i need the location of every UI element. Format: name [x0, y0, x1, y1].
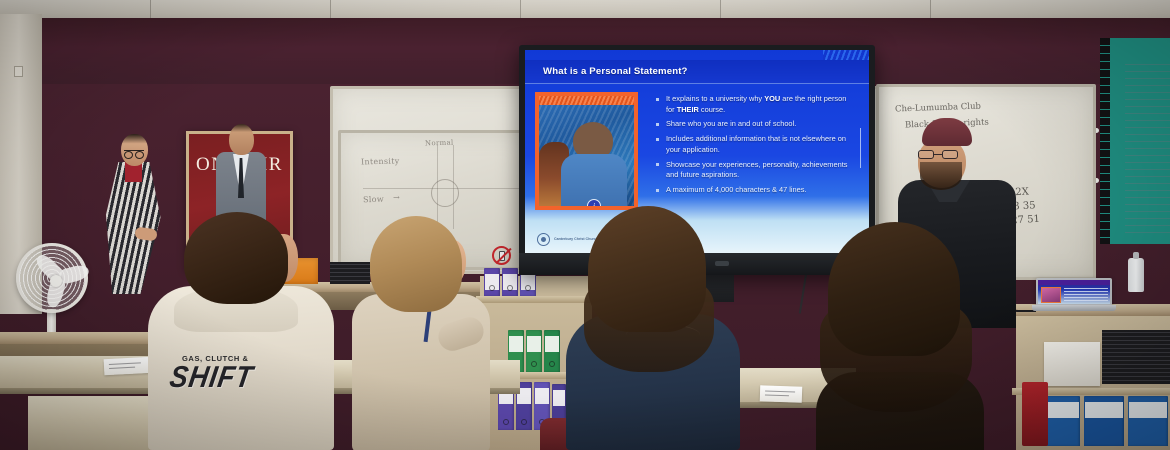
no-mobile-phones-sign — [492, 246, 511, 265]
whiteboard-note: Normal — [425, 139, 454, 148]
power-socket — [14, 66, 23, 77]
ring-binder — [526, 330, 542, 372]
hoodie-print-main: SHIFT — [167, 360, 255, 395]
whiteboard-right-line: Che-Lumumba Club — [895, 102, 981, 115]
slide-photo: i — [535, 92, 638, 210]
slide-bullet: Showcase your experiences, personality, … — [655, 160, 855, 181]
ring-binder — [1084, 396, 1124, 446]
student-right-dark-hair — [812, 222, 988, 450]
slide-scroll-marker — [860, 128, 862, 168]
student-shift-hoodie: GAS, CLUTCH & SHIFT — [148, 212, 334, 450]
slide-bullet: It explains to a university why YOU are … — [655, 94, 855, 115]
glasses-icon — [124, 150, 144, 156]
logo-mark-icon — [537, 233, 550, 246]
slide-title-bar: What is a Personal Statement? — [525, 60, 869, 84]
slide-bullet-list: It explains to a university why YOU are … — [655, 94, 855, 200]
book-stack — [1102, 330, 1170, 384]
classroom-photo: Intensity Normal Slow → Che-Lumumba Club… — [0, 0, 1170, 450]
glasses-icon — [918, 150, 958, 159]
ring-binder — [1128, 396, 1168, 446]
presenter-laptop[interactable] — [1032, 278, 1116, 314]
handout-sheet — [104, 357, 153, 375]
red-storage-tray — [1022, 382, 1048, 446]
student-blonde-knit — [352, 216, 490, 450]
slide-bullet: A maximum of 4,000 characters & 47 lines… — [655, 185, 855, 196]
slide-title: What is a Personal Statement? — [525, 66, 688, 77]
handout-sheet — [760, 385, 803, 402]
notice-board — [1100, 38, 1170, 244]
whiteboard-note: Slow — [363, 195, 384, 205]
pedestal-fan[interactable] — [14, 243, 92, 343]
scalloped-border — [1100, 38, 1110, 244]
desk-edge — [0, 388, 150, 394]
notice-sheet — [1125, 64, 1170, 234]
whiteboard-note: Intensity — [361, 156, 400, 166]
paper-stack — [1044, 342, 1100, 386]
side-counter — [0, 332, 160, 344]
ring-binder — [544, 330, 560, 372]
student-navy-hoodie — [566, 206, 740, 450]
sanitizer-bottle — [1128, 258, 1144, 292]
slide-bullet: Share who you are in and out of school. — [655, 119, 855, 130]
slide-bullet: Includes additional information that is … — [655, 134, 855, 155]
ring-binder — [502, 268, 518, 296]
